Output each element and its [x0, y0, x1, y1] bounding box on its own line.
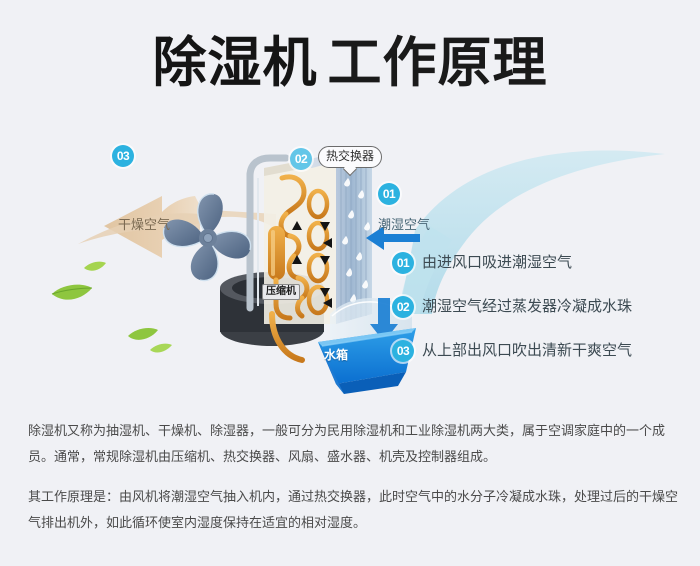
page-title-part-a: 除湿机: [153, 33, 318, 93]
body-paragraph-2: 其工作原理是：由风机将潮湿空气抽入机内，通过热交换器，此时空气中的水分子冷凝成水…: [28, 484, 678, 536]
body-paragraph-1: 除湿机又称为抽湿机、干燥机、除湿器，一般可分为民用除湿机和工业除湿机两大类，属于…: [28, 418, 678, 470]
page-title-part-b: 工作原理: [328, 33, 548, 93]
legend-item: 02 潮湿空气经过蒸发器冷凝成水珠: [392, 296, 692, 340]
legend-item: 01 由进风口吸进潮湿空气: [392, 252, 692, 296]
page-title: 除湿机工作原理: [0, 32, 700, 94]
diagram-label-compressor: 压缩机: [262, 284, 300, 300]
legend-text-03: 从上部出风口吹出清新干爽空气: [422, 339, 632, 363]
legend-badge-03: 03: [392, 340, 414, 362]
diagram-label-humid-air: 潮湿空气: [378, 214, 430, 233]
legend-badge-02: 02: [392, 296, 414, 318]
legend-badge-01: 01: [392, 252, 414, 274]
diagram-badge-03: 03: [112, 145, 134, 167]
leaf-decoration: [52, 262, 172, 353]
diagram-label-water-tank: 水箱: [324, 346, 348, 363]
legend-list: 01 由进风口吸进潮湿空气 02 潮湿空气经过蒸发器冷凝成水珠 03 从上部出风…: [392, 252, 692, 384]
diagram-badge-01: 01: [378, 183, 400, 205]
diagram-badge-02: 02: [290, 148, 312, 170]
body-copy: 除湿机又称为抽湿机、干燥机、除湿器，一般可分为民用除湿机和工业除湿机两大类，属于…: [28, 418, 678, 536]
infographic-page: 除湿机工作原理: [0, 0, 700, 566]
diagram-callout-heat-exchanger: 热交换器: [318, 146, 382, 168]
legend-text-02: 潮湿空气经过蒸发器冷凝成水珠: [422, 295, 632, 319]
legend-item: 03 从上部出风口吹出清新干爽空气: [392, 340, 692, 384]
legend-text-01: 由进风口吸进潮湿空气: [422, 251, 572, 275]
diagram-label-dry-air: 干燥空气: [118, 214, 170, 233]
